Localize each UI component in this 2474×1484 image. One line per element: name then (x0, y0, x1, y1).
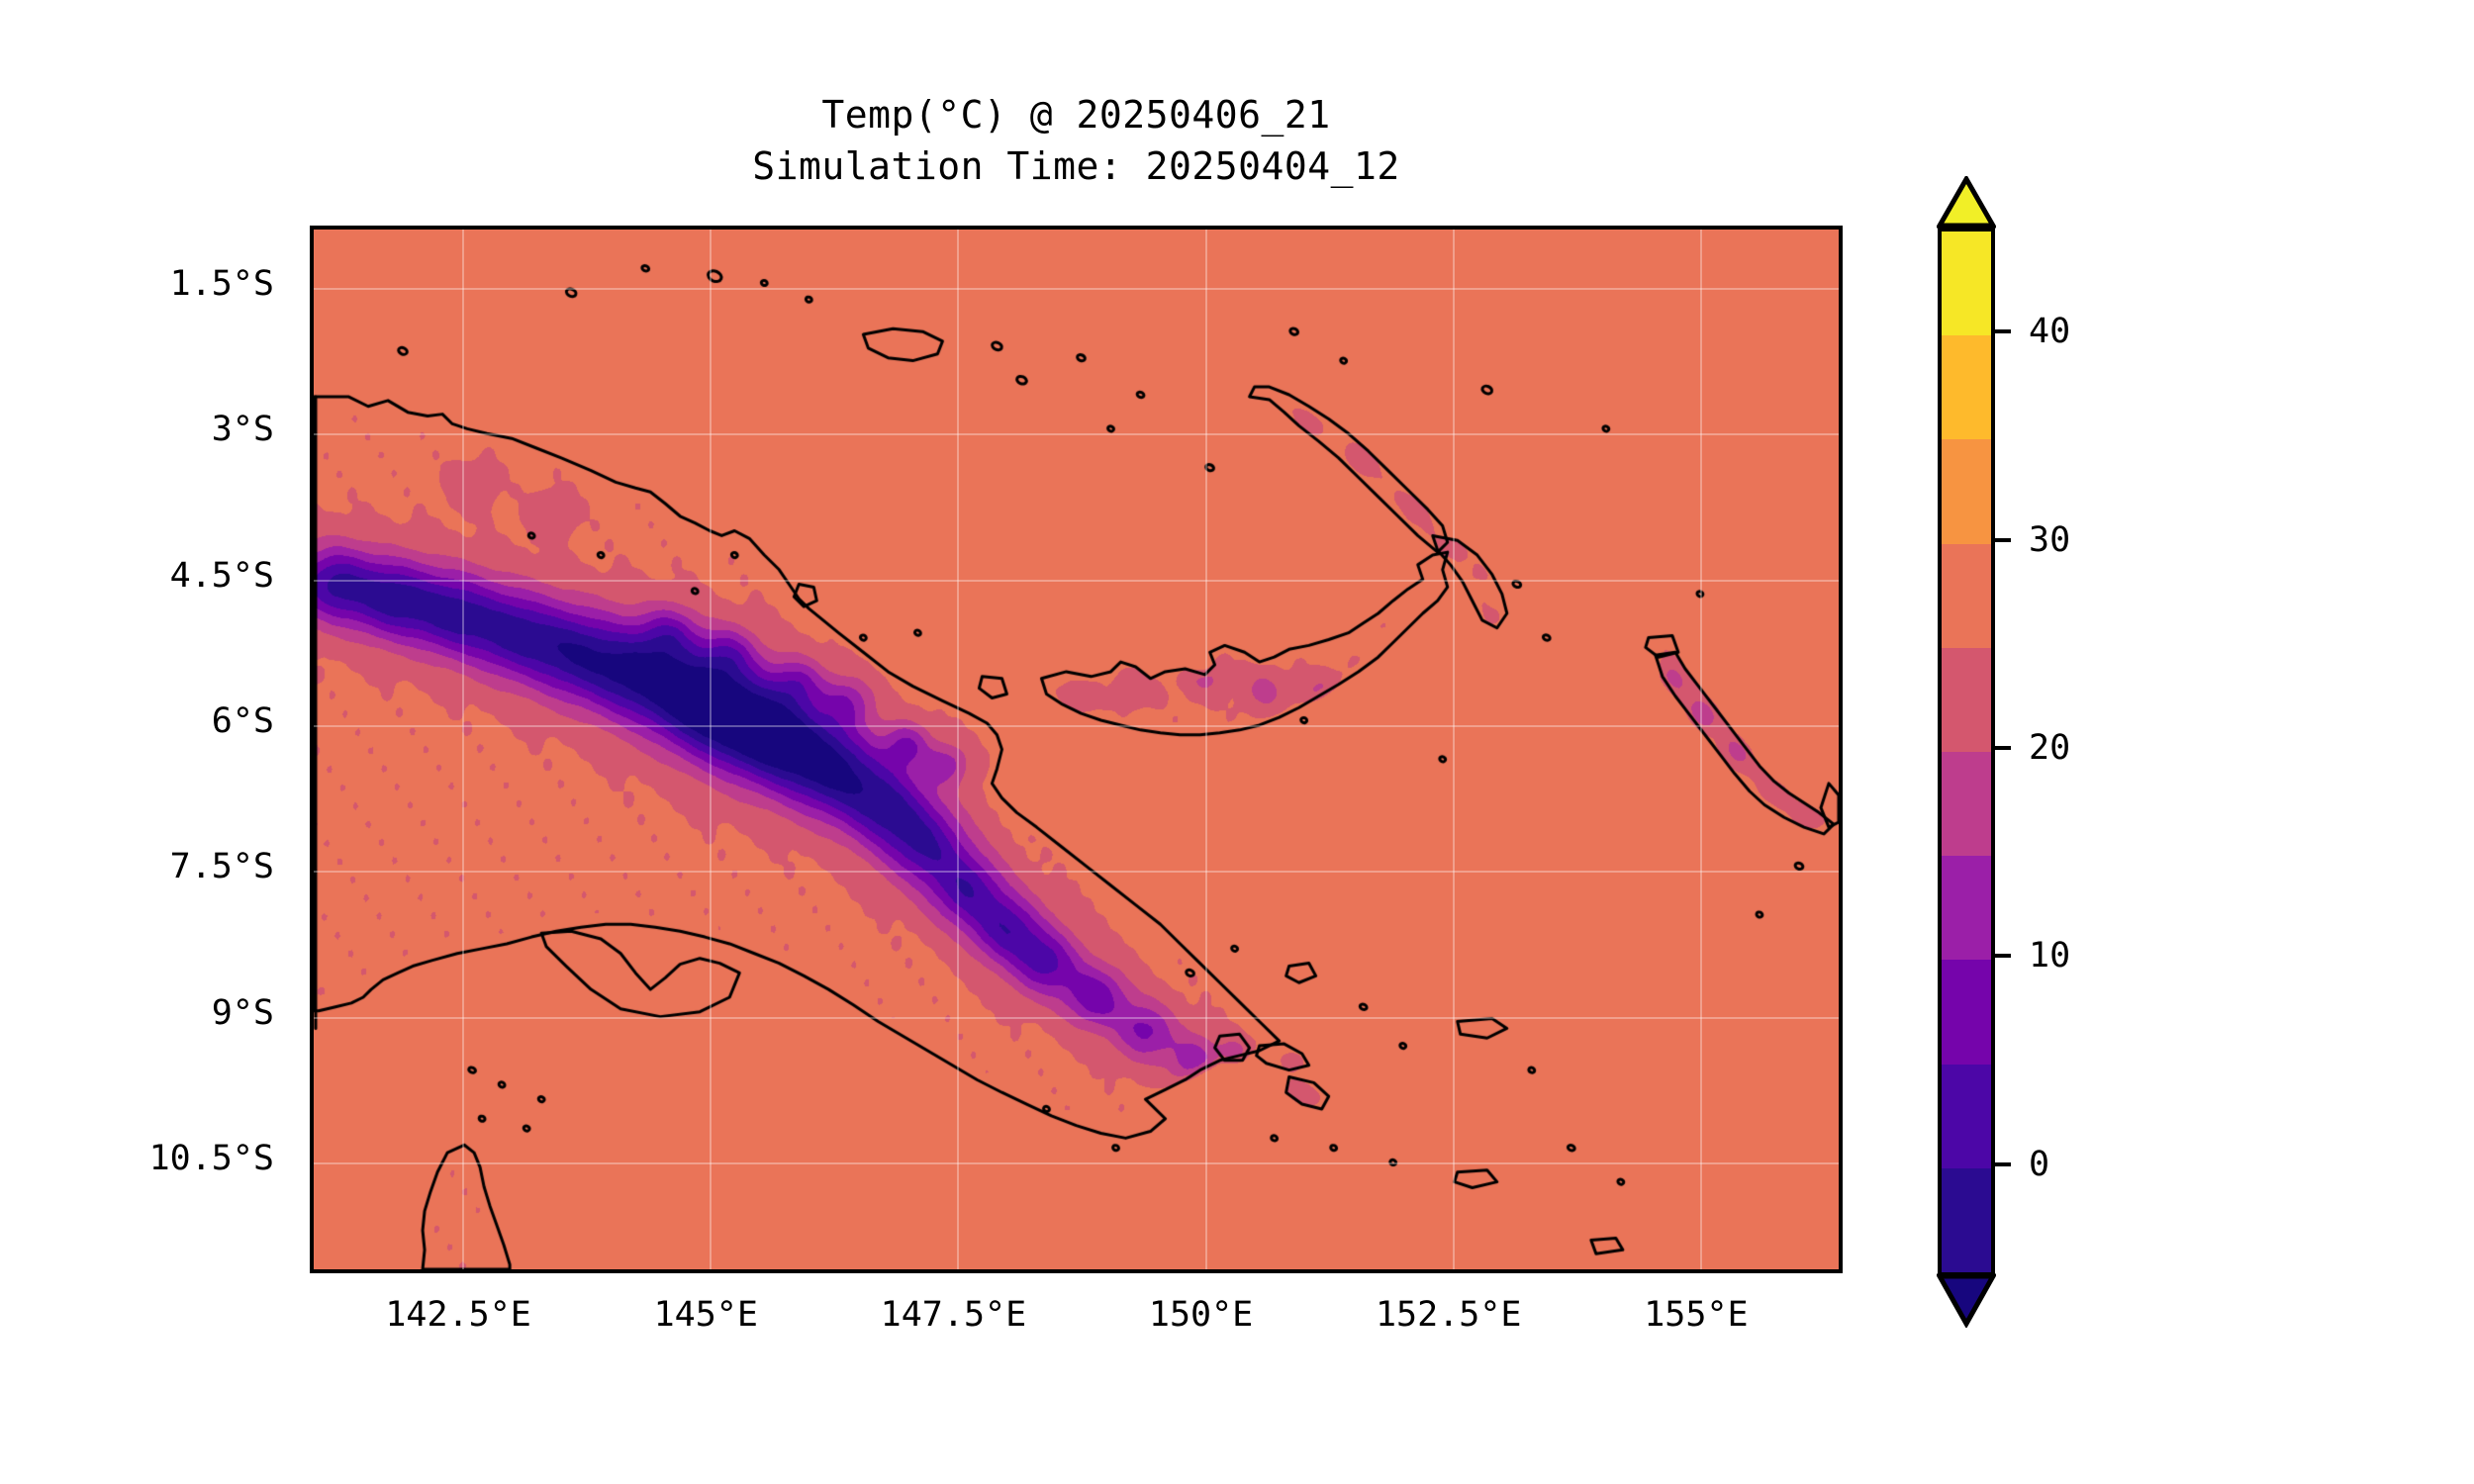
colorbar[interactable]: 403020100 (1938, 178, 1999, 1326)
x-tick-label: 147.5°E (881, 1295, 1027, 1335)
colorbar-band (1942, 232, 1991, 336)
colorbar-tick-labels: 403020100 (1995, 178, 2193, 1326)
title-line-2: Simulation Time: 20250404_12 (310, 140, 1843, 192)
y-tick-label: 7.5°S (170, 847, 274, 886)
temperature-contour-map (314, 230, 1839, 1269)
y-axis-tick-labels: 1.5°S3°S4.5°S6°S7.5°S9°S10.5°S (0, 226, 292, 1273)
x-tick-label: 142.5°E (385, 1295, 531, 1335)
x-tick-label: 155°E (1644, 1295, 1748, 1335)
y-tick-label: 6°S (212, 701, 274, 741)
x-axis-tick-labels: 142.5°E145°E147.5°E150°E152.5°E155°E (310, 1273, 1843, 1362)
colorbar-over-arrow (1937, 176, 1996, 232)
colorbar-band (1942, 648, 1991, 753)
colorbar-band (1942, 439, 1991, 544)
y-tick-label: 10.5°S (149, 1139, 274, 1178)
colorbar-gradient (1938, 228, 1995, 1276)
colorbar-tick-label: 40 (2029, 312, 2070, 351)
y-tick-label: 3°S (212, 410, 274, 449)
y-tick-label: 1.5°S (170, 264, 274, 304)
colorbar-tick-label: 20 (2029, 728, 2070, 768)
colorbar-band (1942, 544, 1991, 649)
colorbar-tick-mark (1995, 538, 2011, 542)
colorbar-band (1942, 960, 1991, 1065)
y-tick-label: 4.5°S (170, 556, 274, 596)
colorbar-under-arrow (1937, 1270, 1996, 1328)
chart-title: Temp(°C) @ 20250406_21 Simulation Time: … (310, 89, 1843, 193)
colorbar-band (1942, 1065, 1991, 1169)
colorbar-tick-mark (1995, 1162, 2011, 1166)
x-tick-label: 152.5°E (1376, 1295, 1522, 1335)
colorbar-tick-label: 30 (2029, 520, 2070, 560)
colorbar-band (1942, 335, 1991, 440)
colorbar-band (1942, 856, 1991, 961)
x-tick-label: 150°E (1149, 1295, 1253, 1335)
colorbar-tick-label: 10 (2029, 936, 2070, 975)
x-tick-label: 145°E (654, 1295, 758, 1335)
colorbar-tick-mark (1995, 954, 2011, 958)
map-axes[interactable] (310, 226, 1843, 1273)
figure-canvas: Temp(°C) @ 20250406_21 Simulation Time: … (0, 0, 2474, 1484)
colorbar-band (1942, 752, 1991, 857)
title-line-1: Temp(°C) @ 20250406_21 (310, 89, 1843, 140)
colorbar-tick-label: 0 (2029, 1145, 2049, 1184)
colorbar-band (1942, 1168, 1991, 1273)
colorbar-tick-mark (1995, 746, 2011, 750)
y-tick-label: 9°S (212, 993, 274, 1033)
colorbar-tick-mark (1995, 329, 2011, 333)
